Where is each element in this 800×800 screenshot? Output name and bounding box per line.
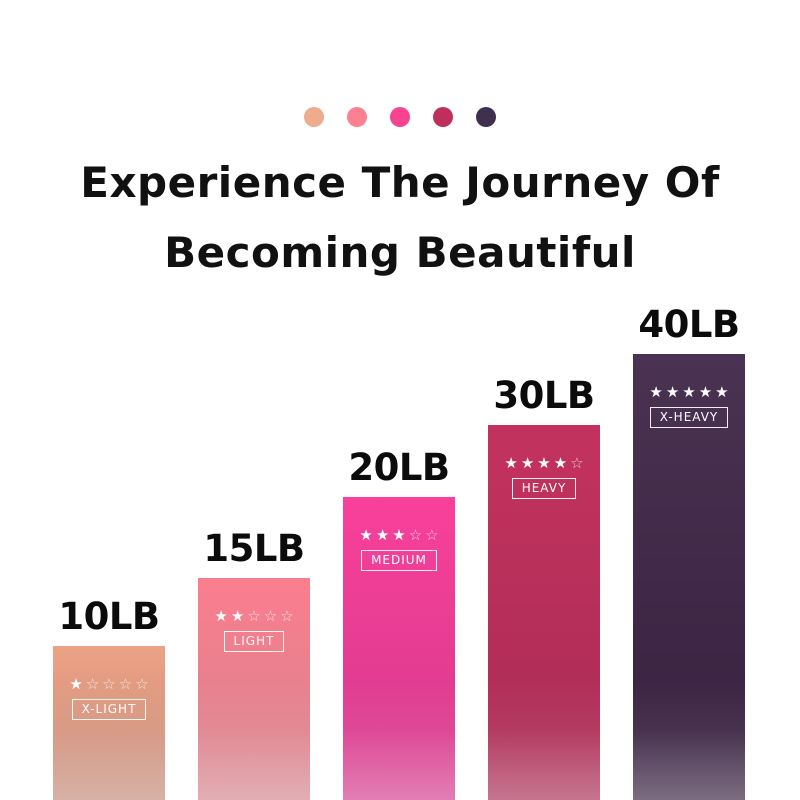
star-empty-icon-5: ☆	[135, 677, 148, 692]
infographic-canvas: Experience The Journey Of Becoming Beaut…	[0, 0, 800, 800]
star-filled-icon-1: ★	[504, 456, 517, 471]
bar-sheen	[633, 680, 745, 800]
weight-label-40lb: 40LB	[611, 303, 767, 346]
badge-light: ★★☆☆☆LIGHT	[198, 609, 310, 652]
star-empty-icon-5: ☆	[425, 528, 438, 543]
star-filled-icon-3: ★	[682, 385, 695, 400]
star-empty-icon-4: ☆	[119, 677, 132, 692]
star-empty-icon-5: ☆	[570, 456, 583, 471]
resistance-bar-chart: 10LB★☆☆☆☆X-LIGHT15LB★★☆☆☆LIGHT20LB★★★☆☆M…	[0, 0, 800, 800]
tier-label-light: LIGHT	[224, 631, 285, 652]
badge-x-heavy: ★★★★★X-HEAVY	[633, 385, 745, 428]
star-filled-icon-2: ★	[521, 456, 534, 471]
star-filled-icon-2: ★	[376, 528, 389, 543]
star-filled-icon-2: ★	[666, 385, 679, 400]
star-empty-icon-4: ☆	[264, 609, 277, 624]
bar-sheen	[488, 680, 600, 800]
weight-label-10lb: 10LB	[31, 595, 187, 638]
weight-label-15lb: 15LB	[176, 527, 332, 570]
star-filled-icon-1: ★	[359, 528, 372, 543]
tier-label-x-heavy: X-HEAVY	[650, 407, 729, 428]
star-rating: ★☆☆☆☆	[69, 677, 148, 692]
tier-label-heavy: HEAVY	[512, 478, 577, 499]
weight-label-30lb: 30LB	[466, 374, 622, 417]
bar-group-30lb[interactable]: 30LB★★★★☆HEAVY	[488, 425, 600, 800]
bar-group-40lb[interactable]: 40LB★★★★★X-HEAVY	[633, 354, 745, 800]
star-filled-icon-3: ★	[537, 456, 550, 471]
star-rating: ★★★☆☆	[359, 528, 438, 543]
star-rating: ★★☆☆☆	[214, 609, 293, 624]
badge-x-light: ★☆☆☆☆X-LIGHT	[53, 677, 165, 720]
star-rating: ★★★★★	[649, 385, 728, 400]
star-filled-icon-4: ★	[699, 385, 712, 400]
bar-10lb[interactable]	[53, 646, 165, 800]
star-filled-icon-1: ★	[649, 385, 662, 400]
star-rating: ★★★★☆	[504, 456, 583, 471]
bar-group-10lb[interactable]: 10LB★☆☆☆☆X-LIGHT	[53, 646, 165, 800]
bar-sheen	[343, 680, 455, 800]
star-empty-icon-3: ☆	[102, 677, 115, 692]
star-filled-icon-2: ★	[231, 609, 244, 624]
badge-heavy: ★★★★☆HEAVY	[488, 456, 600, 499]
bar-group-15lb[interactable]: 15LB★★☆☆☆LIGHT	[198, 578, 310, 800]
star-empty-icon-3: ☆	[247, 609, 260, 624]
star-filled-icon-4: ★	[554, 456, 567, 471]
star-empty-icon-2: ☆	[86, 677, 99, 692]
tier-label-medium: MEDIUM	[361, 550, 437, 571]
bar-group-20lb[interactable]: 20LB★★★☆☆MEDIUM	[343, 497, 455, 800]
star-filled-icon-3: ★	[392, 528, 405, 543]
star-filled-icon-1: ★	[214, 609, 227, 624]
weight-label-20lb: 20LB	[321, 446, 477, 489]
star-filled-icon-5: ★	[715, 385, 728, 400]
star-empty-icon-5: ☆	[280, 609, 293, 624]
star-empty-icon-4: ☆	[409, 528, 422, 543]
bar-sheen	[198, 680, 310, 800]
tier-label-x-light: X-LIGHT	[72, 699, 147, 720]
star-filled-icon-1: ★	[69, 677, 82, 692]
badge-medium: ★★★☆☆MEDIUM	[343, 528, 455, 571]
